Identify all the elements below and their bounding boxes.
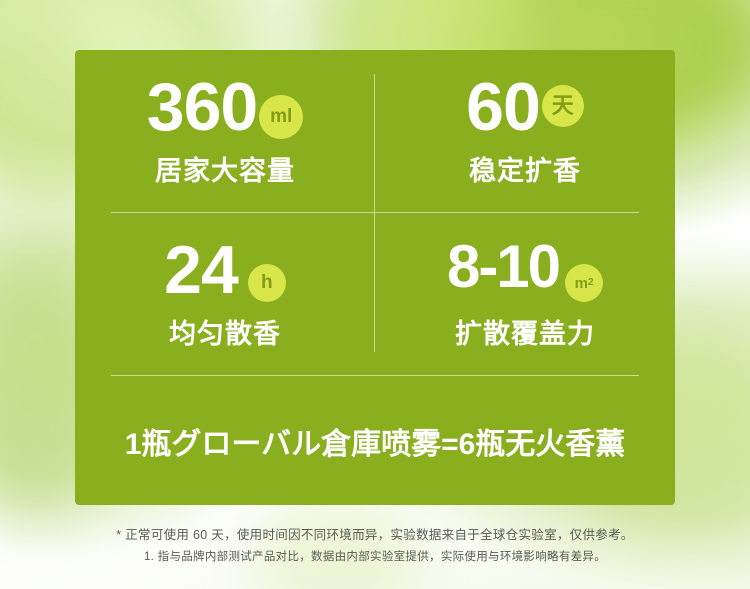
comparison-tagline: 1瓶グローバル倉庫喷雾=6瓶无火香薰 [75, 376, 675, 505]
vertical-divider [374, 74, 375, 352]
stat-value-row: 24 h [164, 238, 286, 303]
unit-badge-day: 天 [542, 85, 584, 127]
stat-number: 60 [466, 75, 540, 140]
unit-badge-base: m [575, 276, 588, 291]
stat-cell-duration: 60 天 稳定扩香 [375, 50, 675, 213]
footnote-primary: * 正常可使用 60 天，使用时间因不同环境而异，实验数据来自于全球仓实验室，仅… [0, 524, 750, 546]
unit-badge-ml: ml [259, 95, 303, 139]
stat-caption: 均匀散香 [169, 312, 281, 351]
unit-badge-hour: h [248, 264, 286, 302]
stat-number: 360 [147, 75, 257, 140]
stat-caption: 稳定扩香 [469, 149, 581, 188]
stat-value-row: 8-10 m2 [447, 238, 603, 302]
stat-cell-capacity: 360 ml 居家大容量 [75, 50, 375, 213]
unit-badge-square-meter: m2 [565, 264, 603, 302]
stat-caption: 扩散覆盖力 [455, 312, 595, 351]
stat-value-row: 60 天 [466, 75, 584, 140]
promo-page: 360 ml 居家大容量 60 天 稳定扩香 24 h 均匀散香 [0, 0, 750, 589]
footnote-secondary: 1. 指与品牌内部测试产品对比，数据由内部实验室提供，实际使用与环境影响略有差异… [0, 546, 750, 568]
footnotes: * 正常可使用 60 天，使用时间因不同环境而异，实验数据来自于全球仓实验室，仅… [0, 524, 750, 568]
stats-grid: 360 ml 居家大容量 60 天 稳定扩香 24 h 均匀散香 [75, 50, 675, 376]
stat-caption: 居家大容量 [155, 149, 295, 188]
stat-cell-coverage: 8-10 m2 扩散覆盖力 [375, 213, 675, 376]
horizontal-divider [111, 212, 639, 213]
stat-cell-hours: 24 h 均匀散香 [75, 213, 375, 376]
stat-number: 8-10 [447, 238, 559, 295]
stat-value-row: 360 ml [147, 75, 303, 140]
unit-badge-superscript: 2 [588, 278, 594, 288]
stats-card: 360 ml 居家大容量 60 天 稳定扩香 24 h 均匀散香 [75, 50, 675, 505]
stat-number: 24 [164, 238, 238, 303]
